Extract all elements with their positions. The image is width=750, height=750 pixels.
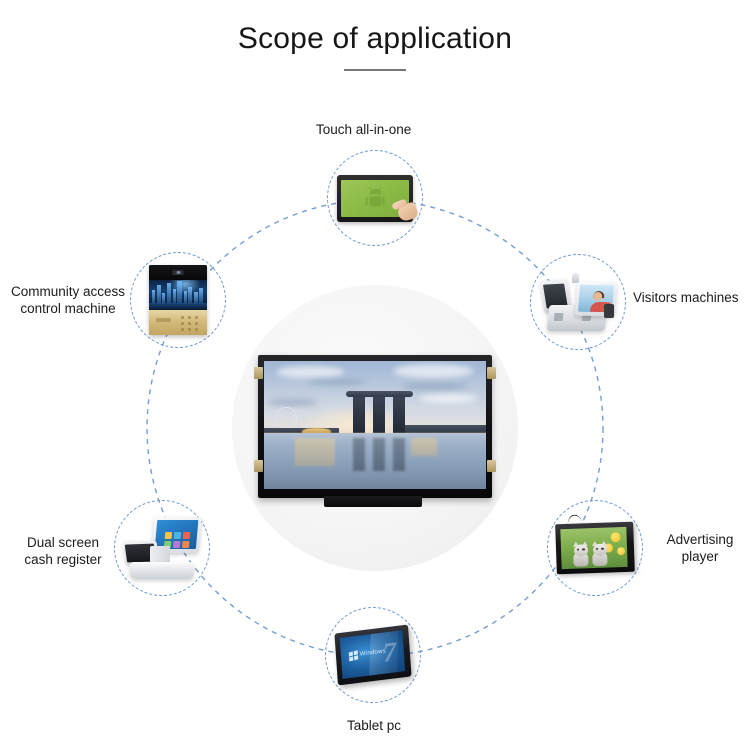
tower-reflection — [393, 438, 405, 471]
visitor-kiosk — [540, 273, 616, 331]
panel-mount-tab — [254, 367, 263, 379]
pos-screen-content — [155, 520, 199, 549]
body — [369, 196, 381, 206]
tower-reflection — [373, 438, 385, 471]
building — [199, 288, 202, 304]
ad-display — [555, 522, 635, 575]
pos-base — [130, 562, 194, 579]
panel-foot — [324, 496, 422, 507]
node-dual-screen-cash-register[interactable] — [114, 500, 210, 596]
tablet-screen: 7 Windows — [340, 630, 405, 679]
card-reader-icon — [604, 304, 614, 318]
face — [593, 292, 603, 301]
app-tile[interactable] — [174, 532, 182, 539]
keypad-dot[interactable] — [188, 322, 191, 325]
cloud — [277, 366, 344, 378]
touch-all-in-one-icon — [328, 151, 422, 245]
panel-keypad — [149, 310, 207, 335]
kitten-head — [592, 544, 606, 556]
light-reflection — [411, 438, 438, 456]
node-touch-all-in-one[interactable] — [327, 150, 423, 246]
community-access-control-icon — [131, 253, 225, 347]
label-advertising-player: Advertising player — [657, 531, 743, 565]
keypad-dot[interactable] — [195, 316, 198, 319]
sky-deck — [346, 391, 413, 397]
app-tile[interactable] — [173, 541, 181, 548]
building — [157, 285, 160, 304]
panel-mount-tab — [487, 460, 496, 472]
tower — [393, 396, 405, 433]
pos-terminal — [124, 517, 200, 579]
node-community-access-control-machine[interactable] — [130, 252, 226, 348]
tablet-pc-icon: 7 Windows — [326, 608, 420, 702]
node-advertising-player[interactable] — [547, 500, 643, 596]
cloud — [268, 399, 317, 405]
camera-icon — [173, 270, 184, 275]
kitten — [572, 542, 590, 567]
flower — [610, 532, 620, 542]
lcd-display-panel — [258, 355, 492, 498]
label-visitors-machines: Visitors machines — [633, 289, 739, 306]
label-community-access-control-machine: Community access control machine — [2, 283, 134, 317]
cash-register-icon — [115, 501, 209, 595]
keypad-dot[interactable] — [181, 322, 184, 325]
tablet-device: 7 Windows — [334, 625, 411, 686]
access-control-panel — [149, 265, 207, 335]
keypad-dot[interactable] — [181, 316, 184, 319]
brand-mark — [156, 318, 171, 322]
tower — [353, 396, 365, 433]
vent — [554, 313, 564, 321]
keypad-dot[interactable] — [195, 328, 198, 331]
arm — [382, 196, 384, 205]
head — [369, 189, 381, 195]
keypad-dot[interactable] — [181, 328, 184, 331]
display-screen — [560, 527, 627, 569]
ferris-wheel — [275, 407, 297, 429]
building — [188, 287, 191, 304]
app-tile[interactable] — [165, 532, 173, 539]
keypad-dot[interactable] — [195, 322, 198, 325]
node-visitors-machines[interactable] — [530, 254, 626, 350]
tower — [373, 396, 385, 433]
pointing-hand-icon — [391, 194, 417, 220]
scope-of-application-diagram: Touch all-in-one — [0, 0, 750, 750]
lcd-screen — [264, 361, 486, 489]
advertising-player-icon — [548, 501, 642, 595]
building — [177, 281, 182, 304]
windows-logo-icon — [348, 650, 357, 661]
panel-screen — [149, 280, 207, 310]
arm — [366, 196, 368, 205]
light-reflection — [295, 438, 335, 466]
panel-mount-tab — [254, 460, 263, 472]
kitten — [591, 542, 609, 567]
tower-reflection — [353, 438, 365, 471]
panel-mount-tab — [487, 367, 496, 379]
android-tablet — [337, 175, 413, 222]
kitten-head — [573, 544, 587, 556]
cloud — [393, 364, 473, 378]
label-dual-screen-cash-register: Dual screen cash register — [18, 534, 108, 568]
label-tablet-pc: Tablet pc — [324, 717, 424, 734]
label-touch-all-in-one: Touch all-in-one — [316, 121, 411, 138]
harbour-water — [149, 303, 207, 310]
building — [152, 290, 155, 304]
app-tile[interactable] — [182, 541, 190, 548]
building — [167, 283, 171, 304]
keypad-dot[interactable] — [188, 316, 191, 319]
visitors-machine-icon — [531, 255, 625, 349]
flower — [617, 547, 625, 555]
keypad-dot[interactable] — [188, 328, 191, 331]
building — [173, 289, 176, 304]
node-tablet-pc[interactable]: 7 Windows — [325, 607, 421, 703]
android-robot-icon — [367, 189, 384, 208]
app-tile[interactable] — [183, 532, 191, 539]
panel-top-bar — [149, 265, 207, 280]
